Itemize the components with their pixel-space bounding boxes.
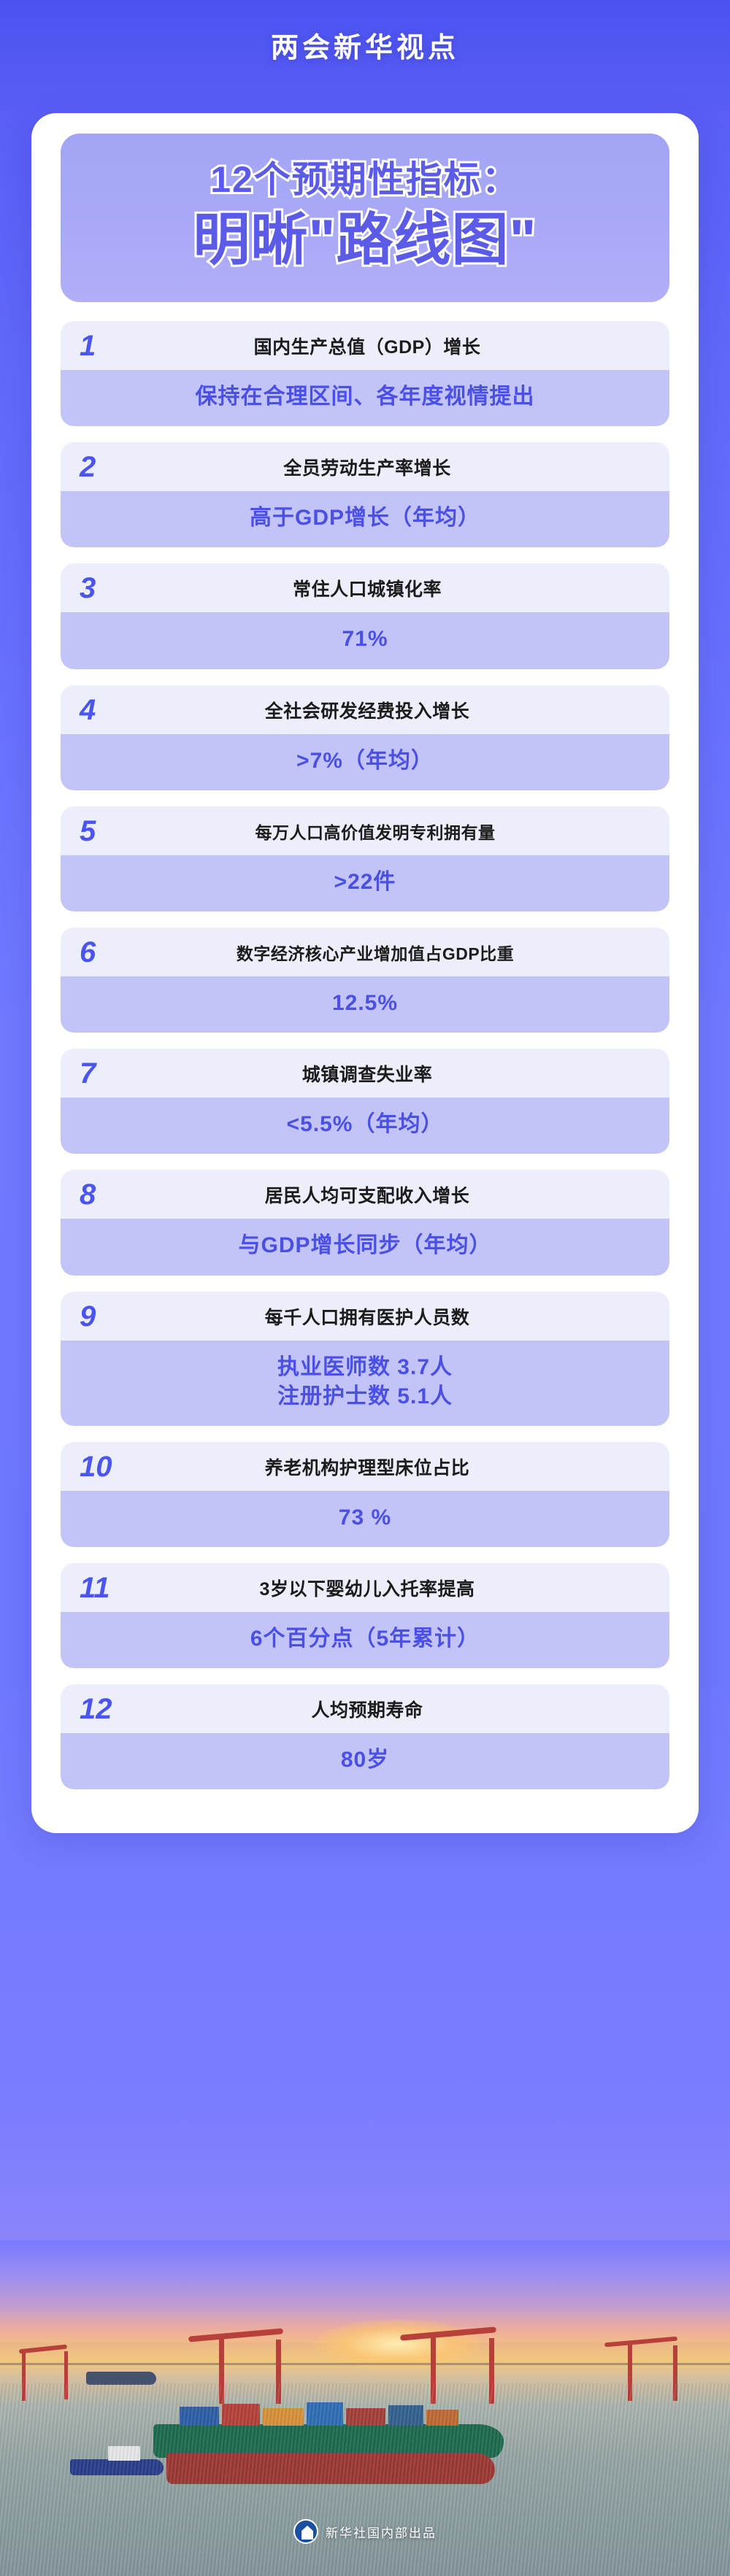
indicator-value: 执业医师数 3.7人注册护士数 5.1人 [61,1341,669,1426]
indicator-number: 5 [80,817,125,846]
title-line-2: 明晰"路线图" [68,206,662,273]
indicator-item-2: 2全员劳动生产率增长高于GDP增长（年均） [61,442,669,547]
indicator-item-7: 7城镇调查失业率<5.5%（年均） [61,1049,669,1154]
footer-credit-text: 新华社国内部出品 [326,2523,437,2541]
indicator-head: 6数字经济核心产业增加值占GDP比重 [61,928,669,976]
indicator-number: 2 [80,452,125,482]
indicator-label: 全社会研发经费投入增长 [125,697,650,723]
indicator-head: 10养老机构护理型床位占比 [61,1442,669,1491]
indicator-value-line: >22件 [72,868,658,897]
indicator-item-1: 1国内生产总值（GDP）增长保持在合理区间、各年度视情提出 [61,321,669,426]
indicator-value: 与GDP增长同步（年均） [61,1219,669,1275]
indicator-head: 7城镇调查失业率 [61,1049,669,1098]
indicator-number: 12 [80,1694,125,1724]
indicator-item-11: 113岁以下婴幼儿入托率提高6个百分点（5年累计） [61,1563,669,1668]
title-line-1: 12个预期性指标： [68,158,662,201]
indicator-value-line: 保持在合理区间、各年度视情提出 [72,382,658,412]
indicator-number: 1 [80,331,125,360]
indicator-value-line: >7%（年均） [72,747,658,776]
footer: 新华社国内部出品 [0,2519,730,2544]
indicator-value: 12.5% [61,976,669,1033]
indicator-item-4: 4全社会研发经费投入增长>7%（年均） [61,685,669,790]
indicator-item-8: 8居民人均可支配收入增长与GDP增长同步（年均） [61,1170,669,1275]
indicator-value: 73 % [61,1491,669,1547]
indicator-value: 6个百分点（5年累计） [61,1612,669,1668]
indicator-label: 数字经济核心产业增加值占GDP比重 [125,940,650,965]
indicator-list: 1国内生产总值（GDP）增长保持在合理区间、各年度视情提出2全员劳动生产率增长高… [47,321,683,1789]
indicator-value: >22件 [61,855,669,911]
indicator-number: 6 [80,938,125,967]
indicator-label: 人均预期寿命 [125,1696,650,1722]
indicator-value-line: 73 % [72,1503,658,1532]
indicator-item-9: 9每千人口拥有医护人员数执业医师数 3.7人注册护士数 5.1人 [61,1292,669,1426]
indicator-head: 12人均预期寿命 [61,1684,669,1733]
indicator-number: 11 [80,1573,125,1603]
title-banner: 12个预期性指标： 明晰"路线图" [61,134,669,302]
indicator-value: >7%（年均） [61,734,669,790]
indicator-value-line: 6个百分点（5年累计） [72,1624,658,1654]
indicator-value-line: 80岁 [72,1746,658,1775]
indicator-label: 养老机构护理型床位占比 [125,1454,650,1480]
water-texture [0,2383,730,2576]
indicator-value-line: 高于GDP增长（年均） [72,504,658,533]
indicator-head: 9每千人口拥有医护人员数 [61,1292,669,1341]
indicator-value-line: 12.5% [72,989,658,1018]
indicator-value-line: 注册护士数 5.1人 [72,1382,658,1411]
indicator-value: <5.5%（年均） [61,1098,669,1154]
indicator-number: 4 [80,695,125,725]
indicator-value-line: 执业医师数 3.7人 [72,1353,658,1382]
indicator-value-line: <5.5%（年均） [72,1110,658,1139]
crane-icon [188,2328,283,2342]
indicator-value: 高于GDP增长（年均） [61,491,669,547]
indicator-item-6: 6数字经济核心产业增加值占GDP比重12.5% [61,928,669,1033]
page-header-title: 两会新华视点 [0,25,730,65]
indicator-number: 3 [80,574,125,603]
horizon-line [0,2363,730,2365]
indicator-value: 保持在合理区间、各年度视情提出 [61,370,669,426]
xinhua-shield-logo-icon [293,2519,318,2544]
indicator-label: 每万人口高价值发明专利拥有量 [125,819,650,844]
indicator-number: 9 [80,1302,125,1331]
indicator-label: 国内生产总值（GDP）增长 [125,333,650,359]
indicator-label: 每千人口拥有医护人员数 [125,1303,650,1330]
crane-icon [604,2337,677,2348]
indicator-value-line: 与GDP增长同步（年均） [72,1231,658,1260]
indicator-label: 常住人口城镇化率 [125,575,650,601]
indicator-label: 城镇调查失业率 [125,1060,650,1087]
indicator-label: 全员劳动生产率增长 [125,454,650,480]
indicator-label: 3岁以下婴幼儿入托率提高 [125,1575,650,1601]
indicator-item-10: 10养老机构护理型床位占比73 % [61,1442,669,1547]
indicator-number: 8 [80,1180,125,1209]
indicator-item-3: 3常住人口城镇化率71% [61,563,669,668]
indicator-head: 1国内生产总值（GDP）增长 [61,321,669,370]
indicator-item-5: 5每万人口高价值发明专利拥有量>22件 [61,806,669,911]
main-content-card: 12个预期性指标： 明晰"路线图" 1国内生产总值（GDP）增长保持在合理区间、… [31,113,699,1833]
indicator-item-12: 12人均预期寿命80岁 [61,1684,669,1789]
sunset-glow [314,2319,482,2369]
indicator-head: 5每万人口高价值发明专利拥有量 [61,806,669,855]
indicator-head: 3常住人口城镇化率 [61,563,669,612]
indicator-head: 113岁以下婴幼儿入托率提高 [61,1563,669,1612]
indicator-value-line: 71% [72,625,658,654]
indicator-number: 7 [80,1059,125,1088]
indicator-value: 80岁 [61,1733,669,1789]
indicator-value: 71% [61,612,669,668]
indicator-head: 4全社会研发经费投入增长 [61,685,669,734]
indicator-label: 居民人均可支配收入增长 [125,1181,650,1208]
indicator-head: 8居民人均可支配收入增长 [61,1170,669,1219]
indicator-head: 2全员劳动生产率增长 [61,442,669,491]
indicator-number: 10 [80,1452,125,1481]
crane-icon [19,2345,67,2354]
